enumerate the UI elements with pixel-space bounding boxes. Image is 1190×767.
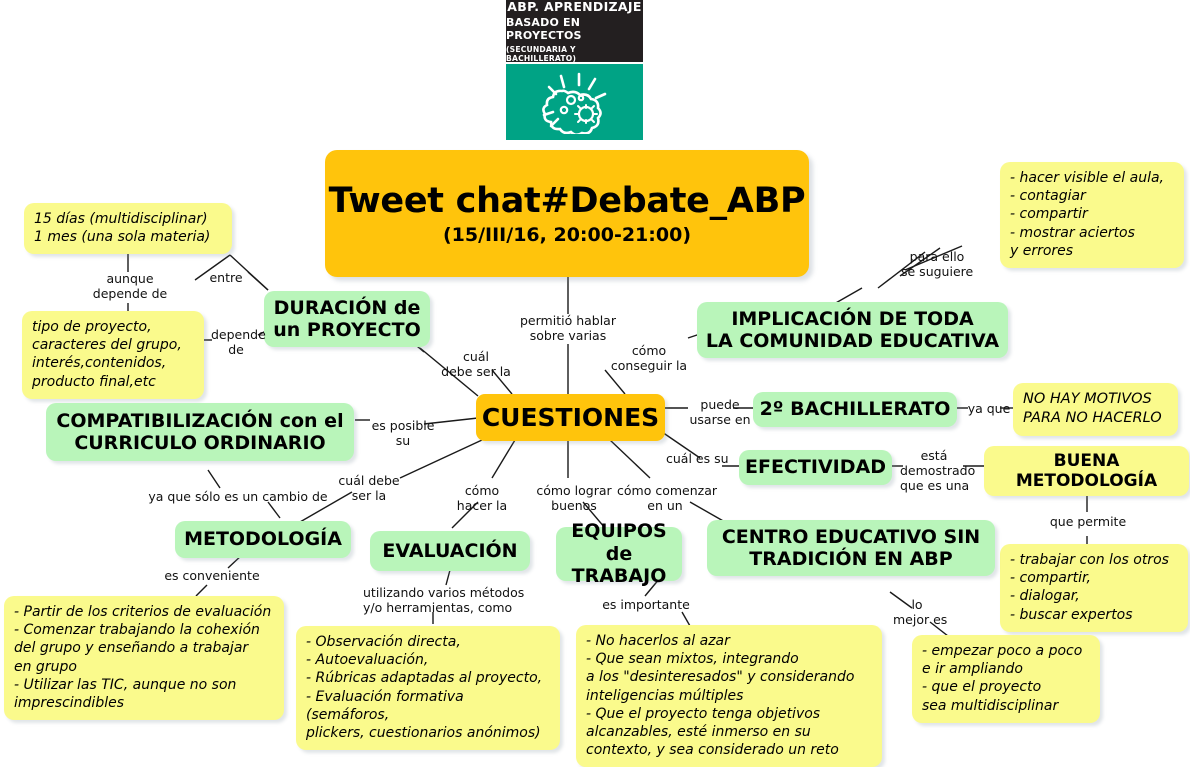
note-duracion-depende: tipo de proyecto, caracteres del grupo, … <box>22 311 204 399</box>
title-date: (15/III/16, <box>443 224 547 246</box>
note-que-permite: - trabajar con los otros - compartir, - … <box>1000 544 1188 632</box>
node-evaluacion[interactable]: EVALUACIÓN <box>370 531 530 571</box>
link-label-aunque-depende-de: aunque depende de <box>86 272 174 302</box>
link-label-como-conseguir-la: cómo conseguir la <box>609 344 689 374</box>
mindmap-canvas: ABP. APRENDIZAJE BASADO EN PROYECTOS (SE… <box>0 0 1190 764</box>
link-label-es-posible-su: es posible su <box>369 419 437 449</box>
link-label-entre: entre <box>203 271 249 286</box>
link-label-como-lograr-buenos: cómo lograr buenos <box>532 484 616 514</box>
abp-logo: ABP. APRENDIZAJE BASADO EN PROYECTOS (SE… <box>506 0 643 138</box>
link-label-es-importante: es importante <box>601 598 691 613</box>
note-equipos-importante: - No hacerlos al azar - Que sean mixtos,… <box>576 625 882 767</box>
logo-line-1: ABP. APRENDIZAJE <box>507 0 641 14</box>
link-label-es-conveniente: es conveniente <box>164 569 260 584</box>
note-evaluacion-metodos: - Observación directa, - Autoevaluación,… <box>296 626 560 750</box>
brain-gears-icon <box>506 62 643 140</box>
logo-line-2: BASADO EN PROYECTOS <box>506 16 643 42</box>
link-label-para-ello-se-suguiere: para ello se suguiere <box>901 250 973 280</box>
note-duracion-tiempos: 15 días (multidisciplinar) 1 mes (una so… <box>24 203 232 254</box>
node-duracion-proyecto[interactable]: DURACIÓN de un PROYECTO <box>264 291 430 347</box>
link-label-utilizando-varios: utilizando varios métodos y/o herramient… <box>363 586 503 616</box>
logo-text-block: ABP. APRENDIZAJE BASADO EN PROYECTOS (SE… <box>506 0 643 62</box>
link-label-como-hacer-la: cómo hacer la <box>452 484 512 514</box>
link-label-esta-demostrado: está demostrado que es una <box>900 449 968 493</box>
mindmap-title-box: Tweet chat#Debate_ABP (15/III/16, 20:00-… <box>325 150 809 277</box>
node-cuestiones[interactable]: CUESTIONES <box>476 394 665 441</box>
node-compatibilizacion-curriculo[interactable]: COMPATIBILIZACIÓN con el CURRICULO ORDIN… <box>46 403 354 461</box>
title-subtitle: (15/III/16, 20:00-21:00) <box>443 224 691 246</box>
node-efectividad[interactable]: EFECTIVIDAD <box>739 450 892 485</box>
title-time: 20:00-21:00) <box>547 224 691 246</box>
page-title: Tweet chat#Debate_ABP <box>329 181 806 222</box>
note-implicacion-sugerencias: - hacer visible el aula, - contagiar - c… <box>1000 162 1184 268</box>
node-bachillerato[interactable]: 2º BACHILLERATO <box>753 392 957 427</box>
link-label-cual-debe-ser-la-bottom: cuál debe ser la <box>335 474 403 504</box>
node-buena-metodologia[interactable]: BUENA METODOLOGÍA <box>984 446 1189 496</box>
link-label-lo-mejor-es: lo mejor es <box>893 598 941 628</box>
link-label-depende-de: depende de <box>211 328 261 358</box>
note-metodologia-conveniente: - Partir de los criterios de evaluación … <box>4 596 284 720</box>
node-metodologia[interactable]: METODOLOGÍA <box>175 521 351 558</box>
link-label-ya-que: ya que <box>966 402 1012 417</box>
link-label-cual-debe-ser-la-top: cuál debe ser la <box>437 350 515 380</box>
node-implicacion-comunidad[interactable]: IMPLICACIÓN DE TODA LA COMUNIDAD EDUCATI… <box>697 302 1008 358</box>
link-label-como-comenzar-en-un: cómo comenzar en un <box>617 484 713 514</box>
link-label-puede-usarse-en: puede usarse en <box>686 398 754 428</box>
logo-line-3: (SECUNDARIA Y BACHILLERATO) <box>506 45 643 63</box>
node-equipos-trabajo[interactable]: EQUIPOS de TRABAJO <box>556 527 682 581</box>
link-label-permitio-hablar: permitió hablar sobre varias <box>512 314 624 344</box>
note-no-hay-motivos: NO HAY MOTIVOS PARA NO HACERLO <box>1013 383 1178 436</box>
link-label-cual-es-su: cuál es su <box>666 452 728 467</box>
link-label-que-permite: que permite <box>1048 515 1128 530</box>
node-centro-educativo[interactable]: CENTRO EDUCATIVO SIN TRADICIÓN EN ABP <box>707 520 995 576</box>
link-label-ya-que-solo-cambio: ya que sólo es un cambio de <box>148 490 328 505</box>
note-lo-mejor-es: - empezar poco a poco e ir ampliando - q… <box>912 635 1100 723</box>
